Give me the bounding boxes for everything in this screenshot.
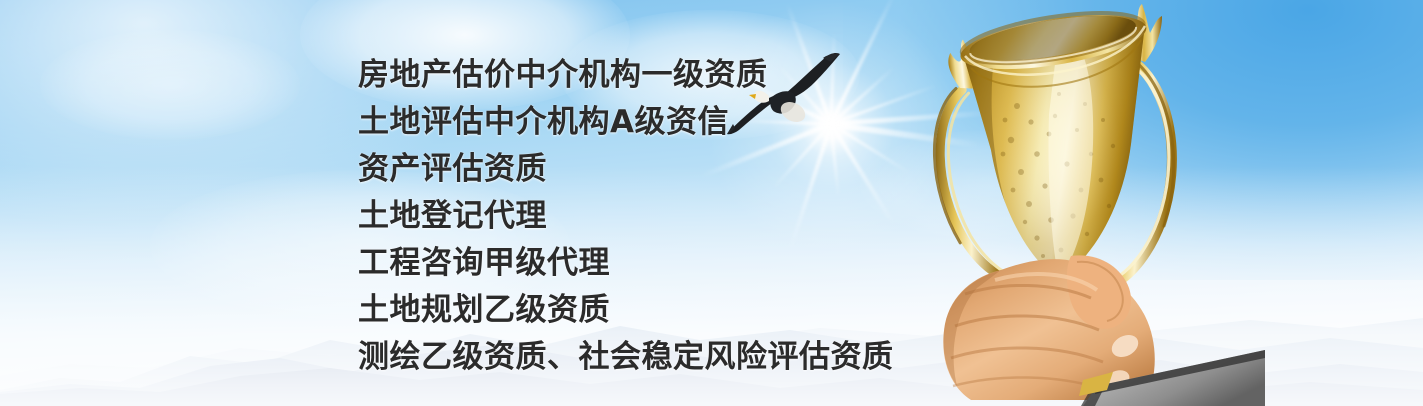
- hand: [943, 255, 1154, 400]
- qualification-list: 房地产估价中介机构一级资质 土地评估中介机构A级资信 资产评估资质 土地登记代理…: [358, 52, 918, 381]
- qualification-line-4: 土地登记代理: [358, 193, 918, 240]
- qualification-line-6: 土地规划乙级资质: [358, 287, 918, 334]
- qualification-line-1: 房地产估价中介机构一级资质: [358, 52, 918, 99]
- qualification-line-5: 工程咨询甲级代理: [358, 240, 918, 287]
- hero-banner: 房地产估价中介机构一级资质 土地评估中介机构A级资信 资产评估资质 土地登记代理…: [0, 0, 1423, 406]
- qualification-line-7: 测绘乙级资质、社会稳定风险评估资质: [358, 334, 918, 381]
- qualification-line-2: 土地评估中介机构A级资信: [358, 99, 918, 146]
- qualification-line-3: 资产评估资质: [358, 146, 918, 193]
